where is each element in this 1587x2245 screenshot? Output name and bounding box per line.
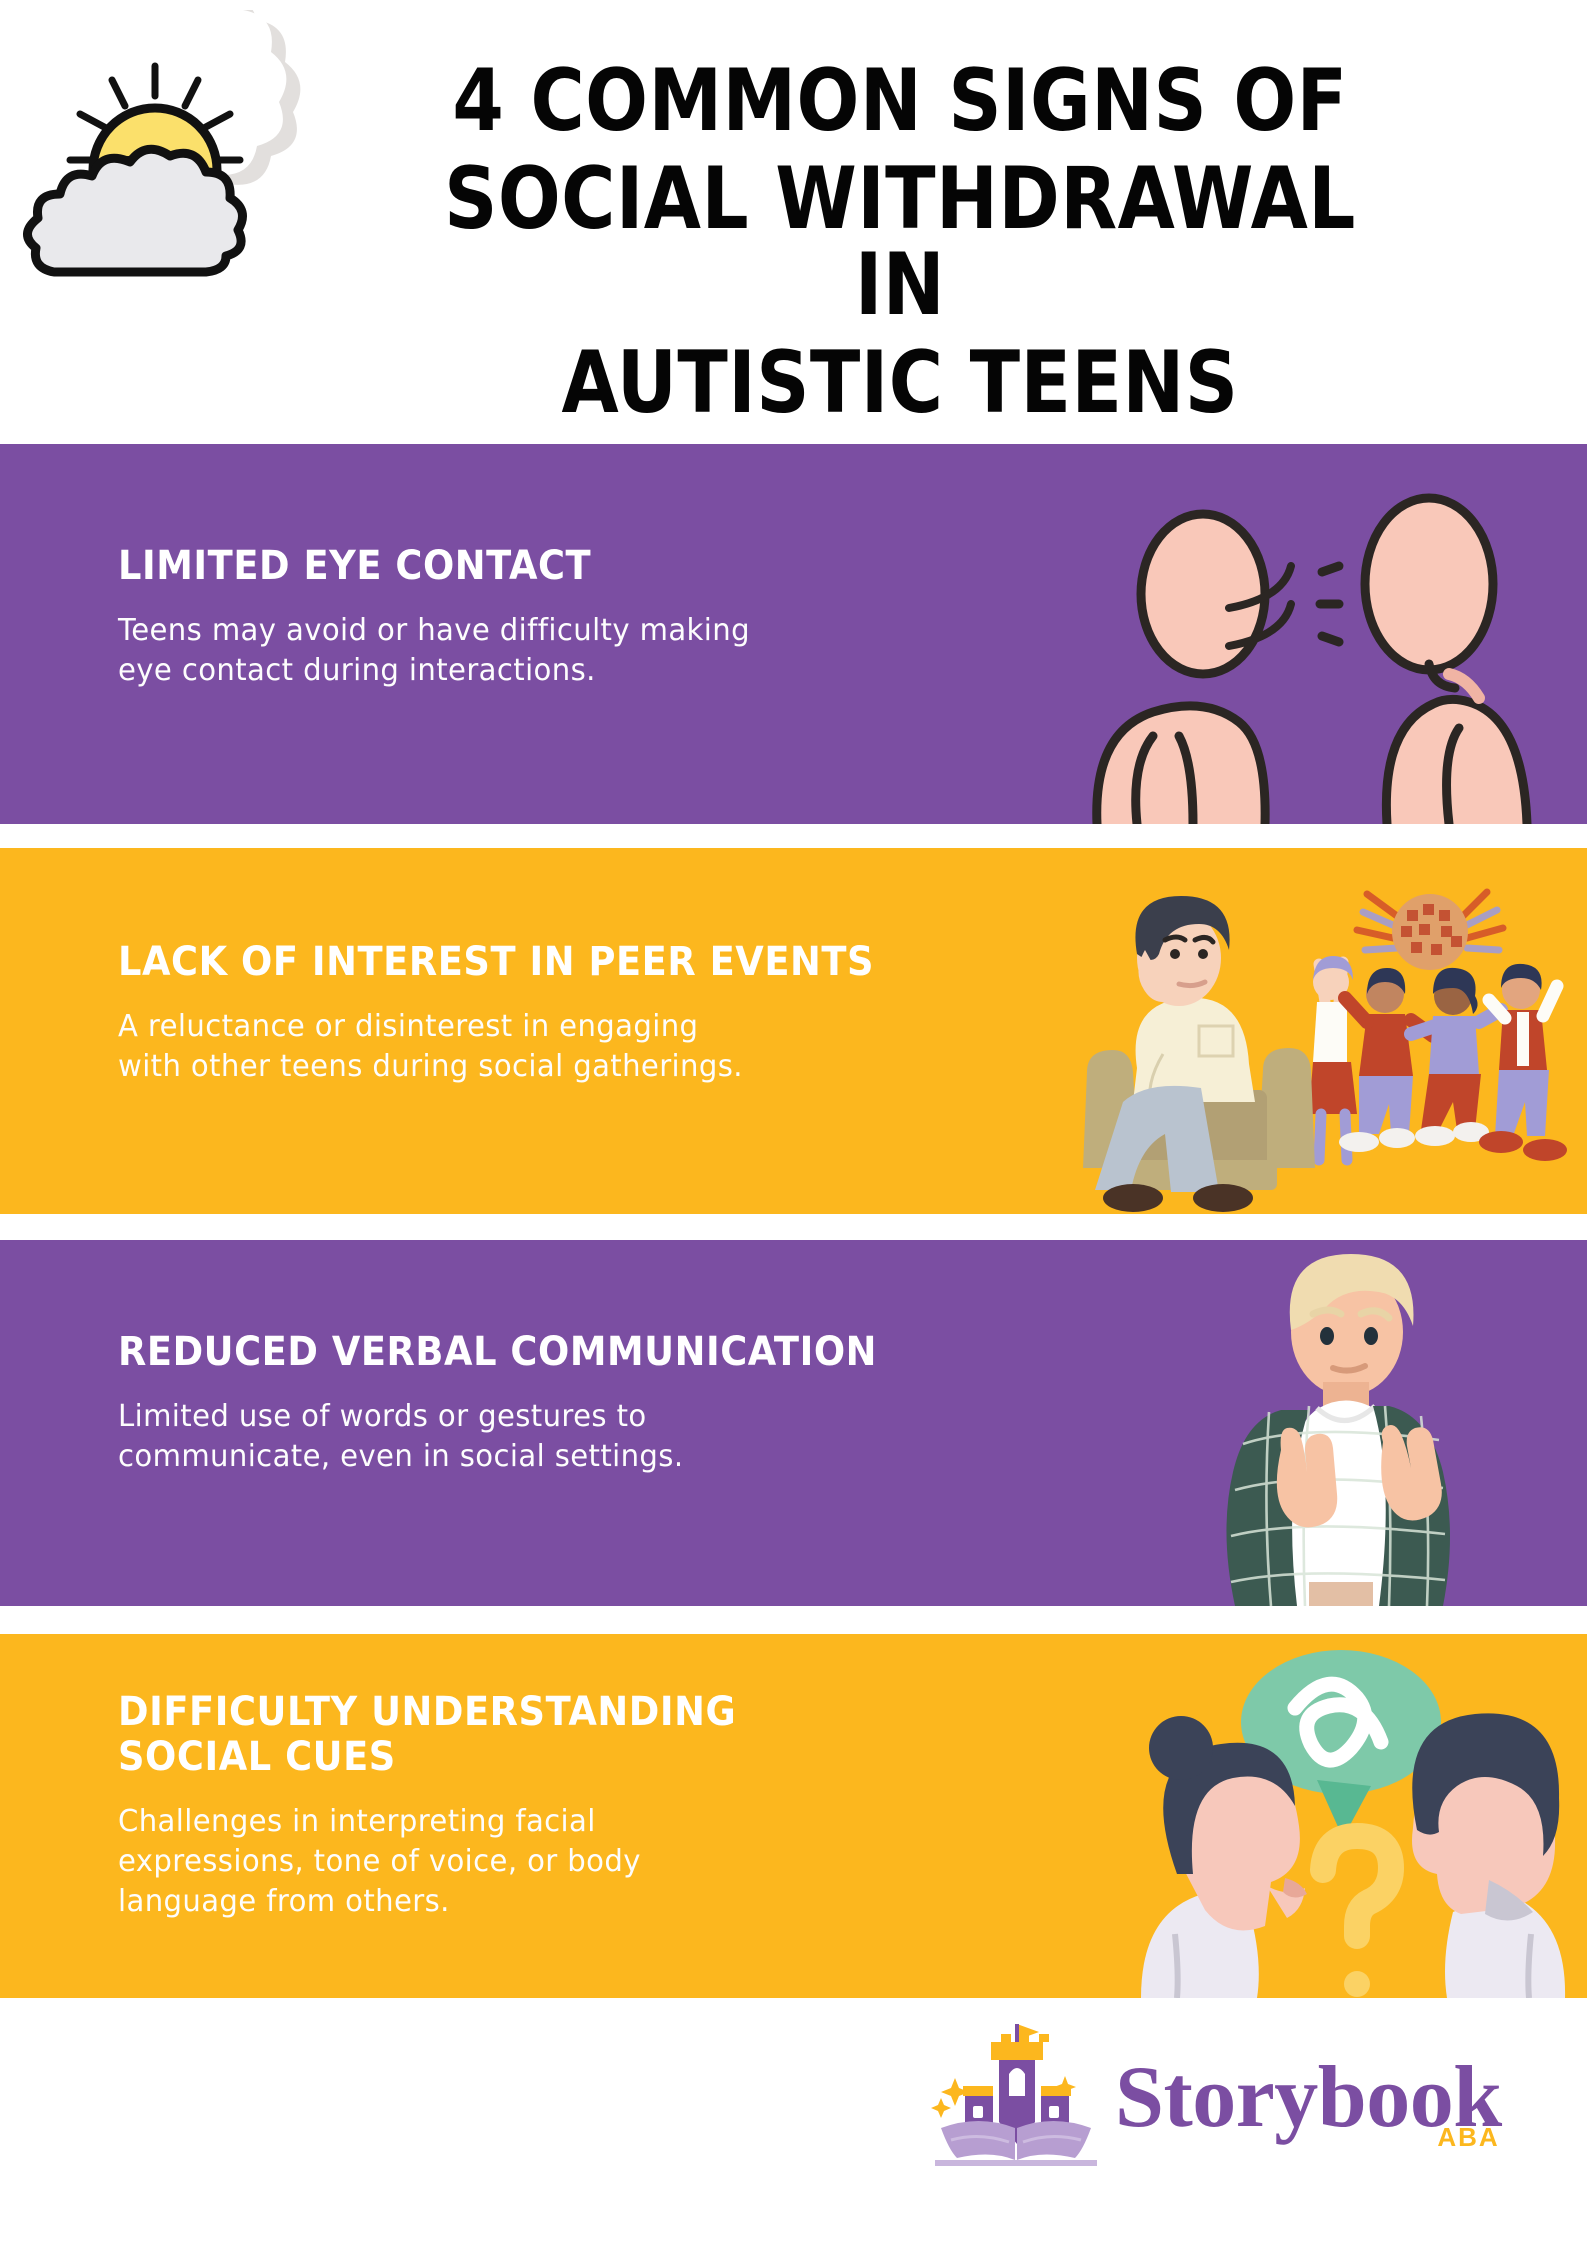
section-difficulty-understanding-social-cues: DIFFICULTY UNDERSTANDING SOCIAL CUES Cha… (0, 1634, 1587, 1998)
section-reduced-verbal-communication: REDUCED VERBAL COMMUNICATION Limited use… (0, 1240, 1587, 1606)
brand-wordmark: Storybook ABA (1115, 2051, 1502, 2141)
page-title-line-1: 4 COMMON SIGNS OF (410, 58, 1390, 144)
sun-behind-cloud-icon (8, 10, 308, 300)
section-1-heading: LIMITED EYE CONTACT (118, 544, 946, 589)
header: 4 COMMON SIGNS OF SOCIAL WITHDRAWAL IN A… (0, 0, 1587, 430)
section-lack-of-interest: LACK OF INTEREST IN PEER EVENTS A reluct… (0, 848, 1587, 1214)
section-limited-eye-contact: LIMITED EYE CONTACT Teens may avoid or h… (0, 444, 1587, 824)
section-2-heading: LACK OF INTEREST IN PEER EVENTS (118, 940, 946, 985)
section-4-text-block: DIFFICULTY UNDERSTANDING SOCIAL CUES Cha… (118, 1690, 1018, 1922)
castle-on-open-book-icon (925, 2016, 1105, 2176)
two-teens-talking-illustration (1077, 474, 1577, 824)
section-3-body: Limited use of words or gestures to comm… (118, 1397, 991, 1477)
page-title: 4 COMMON SIGNS OF SOCIAL WITHDRAWAL IN A… (410, 58, 1390, 438)
bored-teen-on-sofa-with-dancers-illustration (1067, 854, 1587, 1214)
section-1-body: Teens may avoid or have difficulty makin… (118, 611, 991, 691)
section-4-body: Challenges in interpreting facial expres… (118, 1802, 991, 1923)
section-2-body: A reluctance or disinterest in engaging … (118, 1007, 991, 1087)
section-1-text-block: LIMITED EYE CONTACT Teens may avoid or h… (118, 544, 1018, 691)
brand-logo[interactable]: Storybook ABA (925, 2016, 1502, 2176)
page-title-line-2: SOCIAL WITHDRAWAL IN (410, 156, 1390, 328)
brand-subtitle: ABA (1437, 2122, 1499, 2153)
section-4-heading: DIFFICULTY UNDERSTANDING SOCIAL CUES (118, 1690, 946, 1780)
two-people-speech-bubble-question-illustration (1117, 1634, 1587, 1998)
section-3-heading: REDUCED VERBAL COMMUNICATION (118, 1330, 946, 1375)
teen-hands-up-declining-illustration (1131, 1240, 1551, 1606)
section-3-text-block: REDUCED VERBAL COMMUNICATION Limited use… (118, 1330, 1018, 1477)
footer: Storybook ABA (0, 1998, 1587, 2245)
page-title-line-3: AUTISTIC TEENS (410, 340, 1390, 426)
section-2-text-block: LACK OF INTEREST IN PEER EVENTS A reluct… (118, 940, 1018, 1087)
